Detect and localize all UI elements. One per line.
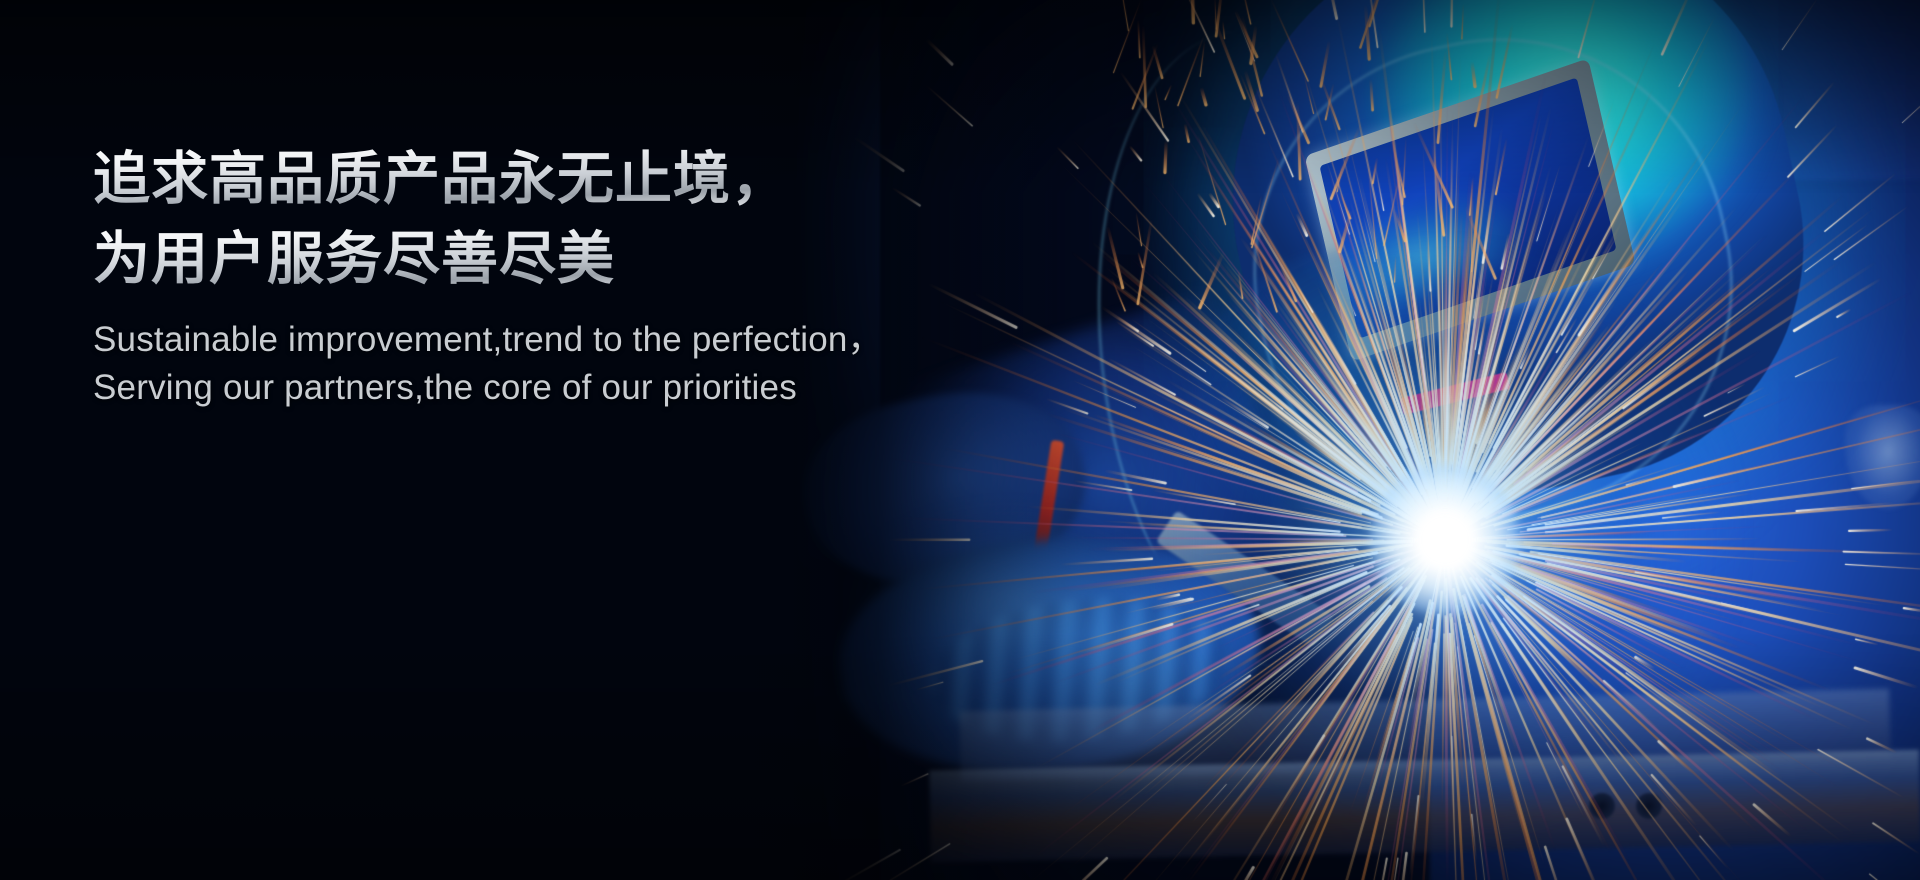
subtitle-line-1: Sustainable improvement,trend to the per… [93, 316, 1093, 364]
hero-banner: 追求高品质产品永无止境， 为用户服务尽善尽美 Sustainable impro… [0, 0, 1920, 880]
banner-copy: 追求高品质产品永无止境， 为用户服务尽善尽美 Sustainable impro… [93, 140, 1093, 412]
headline-line-2: 为用户服务尽善尽美 [93, 220, 1093, 298]
subtitle-line-2: Serving our partners,the core of our pri… [93, 364, 1093, 412]
left-dark-gradient-overlay [0, 0, 1920, 880]
headline-line-1: 追求高品质产品永无止境， [93, 140, 1093, 218]
subtitle-block: Sustainable improvement,trend to the per… [93, 316, 1093, 412]
